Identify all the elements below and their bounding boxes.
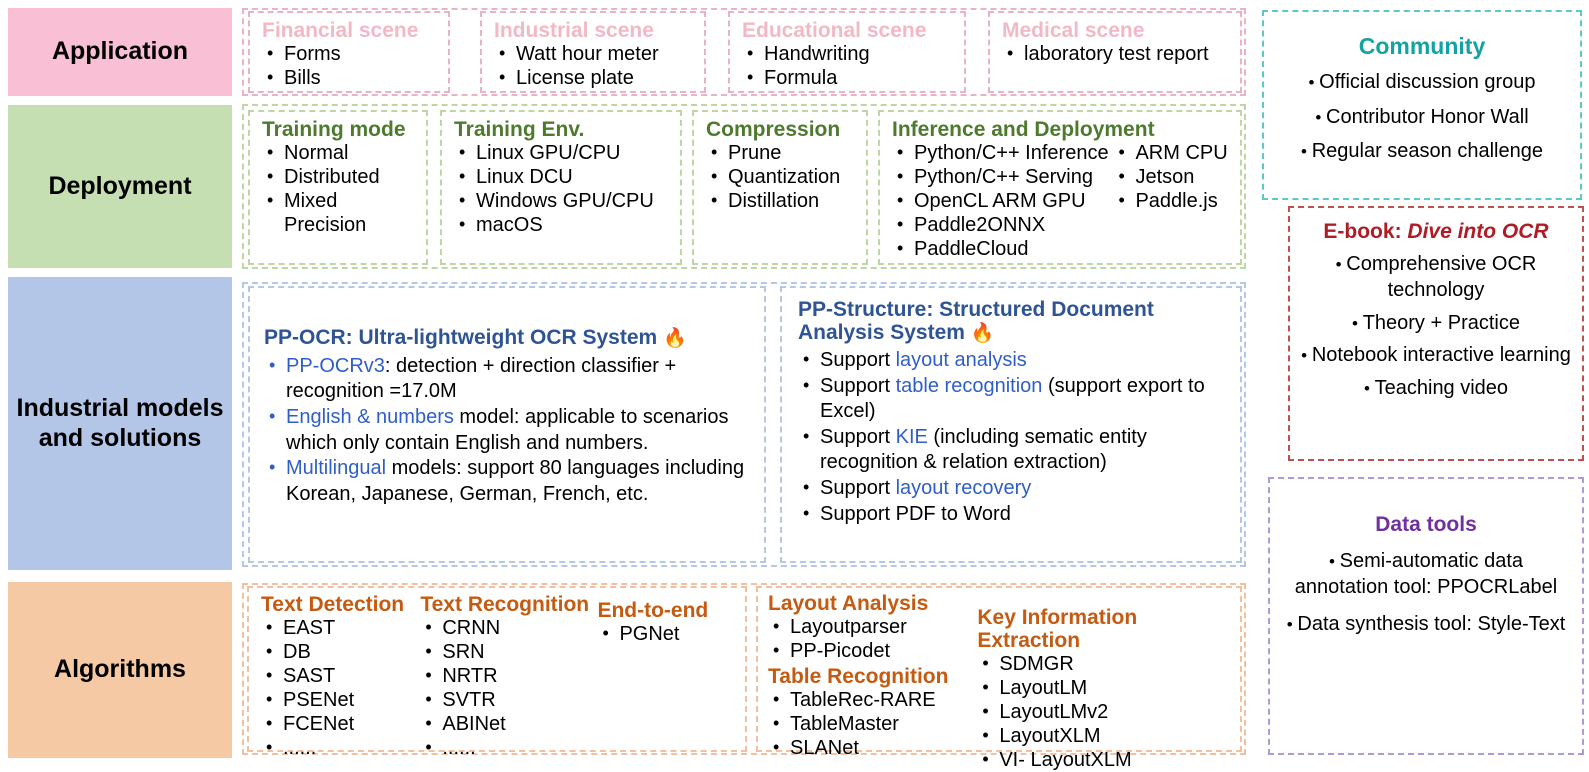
bullet-dot: •: [1308, 73, 1319, 92]
keyword: table recognition: [896, 375, 1043, 397]
list-item: PP-Picodet: [768, 639, 977, 663]
datatools-title: Data tools: [1286, 513, 1566, 536]
bullet-dot: •: [1329, 552, 1340, 571]
category-label-application: Application: [46, 37, 194, 67]
list-item: laboratory test report: [1002, 42, 1230, 66]
fire-icon: 🔥: [971, 323, 995, 344]
list-item: • Comprehensive OCR technology: [1300, 251, 1572, 304]
list-item: Formula: [742, 66, 954, 90]
list-item: macOS: [454, 213, 670, 237]
category-label-industrial: Industrial models and solutions: [8, 394, 232, 453]
group-title: Industrial scene: [494, 19, 694, 42]
group-list: SDMGR LayoutLM LayoutLMv2 LayoutXLM VI- …: [977, 652, 1240, 772]
list-item: English & numbers model: applicable to s…: [264, 405, 752, 456]
list-item: SAST: [261, 664, 420, 688]
list-item: SDMGR: [977, 652, 1240, 676]
group-title: End-to-end: [597, 599, 745, 622]
group-list: Prune Quantization Distillation: [706, 141, 856, 213]
list-item: SVTR: [420, 688, 597, 712]
group-title: Compression: [706, 118, 856, 141]
category-label-deployment: Deployment: [42, 172, 197, 202]
list-item: • Official discussion group: [1278, 69, 1566, 95]
bullet-dot: •: [1336, 255, 1347, 274]
algorithms-group-right: Layout Analysis Layoutparser PP-Picodet …: [756, 586, 1242, 752]
list-item: Jetson: [1113, 165, 1230, 189]
application-group-educational: Educational scene Handwriting Formula: [728, 11, 966, 93]
industrial-group-ppocr: PP-OCR: Ultra-lightweight OCR System 🔥 P…: [248, 286, 766, 563]
ppstructure-title: PP-Structure: Structured Document Analys…: [798, 298, 1230, 345]
list-item: Normal: [262, 141, 416, 165]
group-title: Training Env.: [454, 118, 670, 141]
list-item: Support table recognition (support expor…: [798, 374, 1230, 425]
group-title: Financial scene: [262, 19, 438, 42]
industrial-group-ppstructure: PP-Structure: Structured Document Analys…: [780, 286, 1242, 563]
category-label-algorithms: Algorithms: [48, 655, 192, 685]
category-band-algorithms: Algorithms: [8, 582, 232, 758]
list-item: EAST: [261, 616, 420, 640]
bullet-dot: •: [1301, 142, 1312, 161]
group-title: Table Recognition: [768, 665, 977, 688]
group-title: Educational scene: [742, 19, 954, 42]
list-item: Python/C++ Serving: [892, 165, 1113, 189]
group-list: TableRec-RARE TableMaster SLANet: [768, 688, 977, 760]
list-item: Distillation: [706, 189, 856, 213]
rail-card-community: Community • Official discussion group • …: [1262, 10, 1582, 200]
group-list: Forms Bills: [262, 42, 438, 90]
list-item: Bills: [262, 66, 438, 90]
ppocr-title: PP-OCR: Ultra-lightweight OCR System 🔥: [264, 326, 752, 350]
list-item-pre: Support PDF to Word: [820, 503, 1011, 525]
list-item: SLANet: [768, 736, 977, 760]
group-list: Normal Distributed Mixed Precision: [262, 141, 416, 237]
deployment-group-training-env: Training Env. Linux GPU/CPU Linux DCU Wi…: [440, 110, 682, 265]
list-item: LayoutLM: [977, 676, 1240, 700]
keyword: PP-OCRv3: [286, 355, 385, 377]
rail-card-datatools: Data tools • Semi-automatic data annotat…: [1268, 477, 1584, 755]
list-item: Forms: [262, 42, 438, 66]
group-title: Training mode: [262, 118, 416, 141]
list-item: Windows GPU/CPU: [454, 189, 670, 213]
list-item: Support KIE (including sematic entity re…: [798, 425, 1230, 476]
list-item: Linux DCU: [454, 165, 670, 189]
group-title: Layout Analysis: [768, 592, 977, 615]
group-list: laboratory test report: [1002, 42, 1230, 66]
bullet-dot: •: [1287, 615, 1298, 634]
list-item: Support layout analysis: [798, 348, 1230, 374]
deployment-group-inference-deployment: Inference and Deployment Python/C++ Infe…: [878, 110, 1242, 265]
list-item: • Contributor Honor Wall: [1278, 104, 1566, 130]
architecture-diagram: Application Deployment Industrial models…: [0, 0, 1589, 769]
list-item: Handwriting: [742, 42, 954, 66]
list-item: Multilingual models: support 80 language…: [264, 456, 752, 507]
datatools-list: • Semi-automatic data annotation tool: P…: [1286, 548, 1566, 637]
keyword: layout analysis: [896, 349, 1027, 371]
application-group-medical: Medical scene laboratory test report: [988, 11, 1242, 93]
bullet-dot: •: [1301, 346, 1312, 365]
list-item: TableRec-RARE: [768, 688, 977, 712]
group-title: Text Detection: [261, 593, 420, 616]
fire-icon: 🔥: [663, 328, 687, 349]
list-item: Watt hour meter: [494, 42, 694, 66]
category-band-deployment: Deployment: [8, 105, 232, 268]
ppocr-list: PP-OCRv3: detection + direction classifi…: [264, 354, 752, 508]
list-item: Python/C++ Inference: [892, 141, 1113, 165]
list-item: PP-OCRv3: detection + direction classifi…: [264, 354, 752, 405]
algorithms-col-text-recognition: Text Recognition CRNN SRN NRTR SVTR ABIN…: [420, 593, 597, 760]
application-group-financial: Financial scene Forms Bills: [248, 11, 450, 93]
group-list: Watt hour meter License plate: [494, 42, 694, 90]
list-item: Prune: [706, 141, 856, 165]
list-item: ARM CPU: [1113, 141, 1230, 165]
list-item: SRN: [420, 640, 597, 664]
algorithms-col-structure: Layout Analysis Layoutparser PP-Picodet …: [768, 592, 977, 772]
ebook-title: E-book: Dive into OCR: [1300, 220, 1572, 243]
bullet-dot: •: [1315, 108, 1326, 127]
algorithms-col-kie: Key Information Extraction SDMGR LayoutL…: [977, 592, 1240, 772]
group-list: Layoutparser PP-Picodet: [768, 615, 977, 663]
list-item: PSENet: [261, 688, 420, 712]
list-item: Mixed Precision: [262, 189, 416, 237]
community-title: Community: [1278, 34, 1566, 59]
group-title: Medical scene: [1002, 19, 1230, 42]
list-item-pre: Support: [820, 477, 896, 499]
list-item: Support layout recovery: [798, 476, 1230, 502]
list-item: VI- LayoutXLM: [977, 748, 1240, 772]
group-title: Inference and Deployment: [892, 118, 1230, 141]
list-item-pre: Support: [820, 426, 896, 448]
list-item: OpenCL ARM GPU: [892, 189, 1113, 213]
keyword: English & numbers: [286, 406, 454, 428]
category-band-application: Application: [8, 8, 232, 96]
algorithms-group-left: Text Detection EAST DB SAST PSENet FCENe…: [247, 586, 747, 752]
category-band-industrial: Industrial models and solutions: [8, 277, 232, 570]
list-item: DB: [261, 640, 420, 664]
group-list: Python/C++ Inference Python/C++ Serving …: [892, 141, 1113, 261]
list-item: LayoutXLM: [977, 724, 1240, 748]
list-item-pre: Support: [820, 349, 896, 371]
list-item: • Data synthesis tool: Style-Text: [1286, 611, 1566, 637]
group-list: Handwriting Formula: [742, 42, 954, 90]
list-item: Paddle2ONNX: [892, 213, 1113, 237]
group-title: Key Information Extraction: [977, 606, 1240, 652]
algorithms-col-text-detection: Text Detection EAST DB SAST PSENet FCENe…: [261, 593, 420, 760]
bullet-dot: •: [1364, 379, 1375, 398]
keyword: Multilingual: [286, 457, 386, 479]
group-title: Text Recognition: [420, 593, 597, 616]
list-item: Paddle.js: [1113, 189, 1230, 213]
group-list: Linux GPU/CPU Linux DCU Windows GPU/CPU …: [454, 141, 670, 237]
list-item: FCENet: [261, 712, 420, 736]
list-item: LayoutLMv2: [977, 700, 1240, 724]
application-group-industrial: Industrial scene Watt hour meter License…: [480, 11, 706, 93]
list-item: • Semi-automatic data annotation tool: P…: [1286, 548, 1566, 601]
list-item: TableMaster: [768, 712, 977, 736]
list-item: • Notebook interactive learning: [1300, 342, 1572, 368]
list-item: ......: [261, 736, 420, 760]
list-item: Quantization: [706, 165, 856, 189]
list-item: ABINet: [420, 712, 597, 736]
list-item: • Teaching video: [1300, 375, 1572, 401]
deployment-group-training-mode: Training mode Normal Distributed Mixed P…: [248, 110, 428, 265]
rail-card-ebook: E-book: Dive into OCR • Comprehensive OC…: [1288, 206, 1584, 461]
group-list: PGNet: [597, 622, 745, 646]
group-list-secondary: ARM CPU Jetson Paddle.js: [1113, 141, 1230, 261]
list-item: Distributed: [262, 165, 416, 189]
ebook-list: • Comprehensive OCR technology • Theory …: [1300, 251, 1572, 401]
list-item: PGNet: [597, 622, 745, 646]
bullet-dot: •: [1352, 314, 1363, 333]
list-item: PaddleCloud: [892, 237, 1113, 261]
algorithms-col-end-to-end: End-to-end PGNet: [597, 593, 745, 760]
group-list: EAST DB SAST PSENet FCENet ......: [261, 616, 420, 760]
list-item: Support PDF to Word: [798, 502, 1230, 528]
list-item: Linux GPU/CPU: [454, 141, 670, 165]
keyword: KIE: [896, 426, 928, 448]
group-list: CRNN SRN NRTR SVTR ABINet ......: [420, 616, 597, 760]
keyword: layout recovery: [896, 477, 1032, 499]
list-item-pre: Support: [820, 375, 896, 397]
list-item: CRNN: [420, 616, 597, 640]
community-list: • Official discussion group • Contributo…: [1278, 69, 1566, 164]
list-item: License plate: [494, 66, 694, 90]
list-item: ......: [420, 736, 597, 760]
ppstructure-list: Support layout analysis Support table re…: [798, 348, 1230, 527]
list-item: Layoutparser: [768, 615, 977, 639]
list-item: • Regular season challenge: [1278, 138, 1566, 164]
list-item: NRTR: [420, 664, 597, 688]
list-item: • Theory + Practice: [1300, 310, 1572, 336]
deployment-group-compression: Compression Prune Quantization Distillat…: [692, 110, 868, 265]
